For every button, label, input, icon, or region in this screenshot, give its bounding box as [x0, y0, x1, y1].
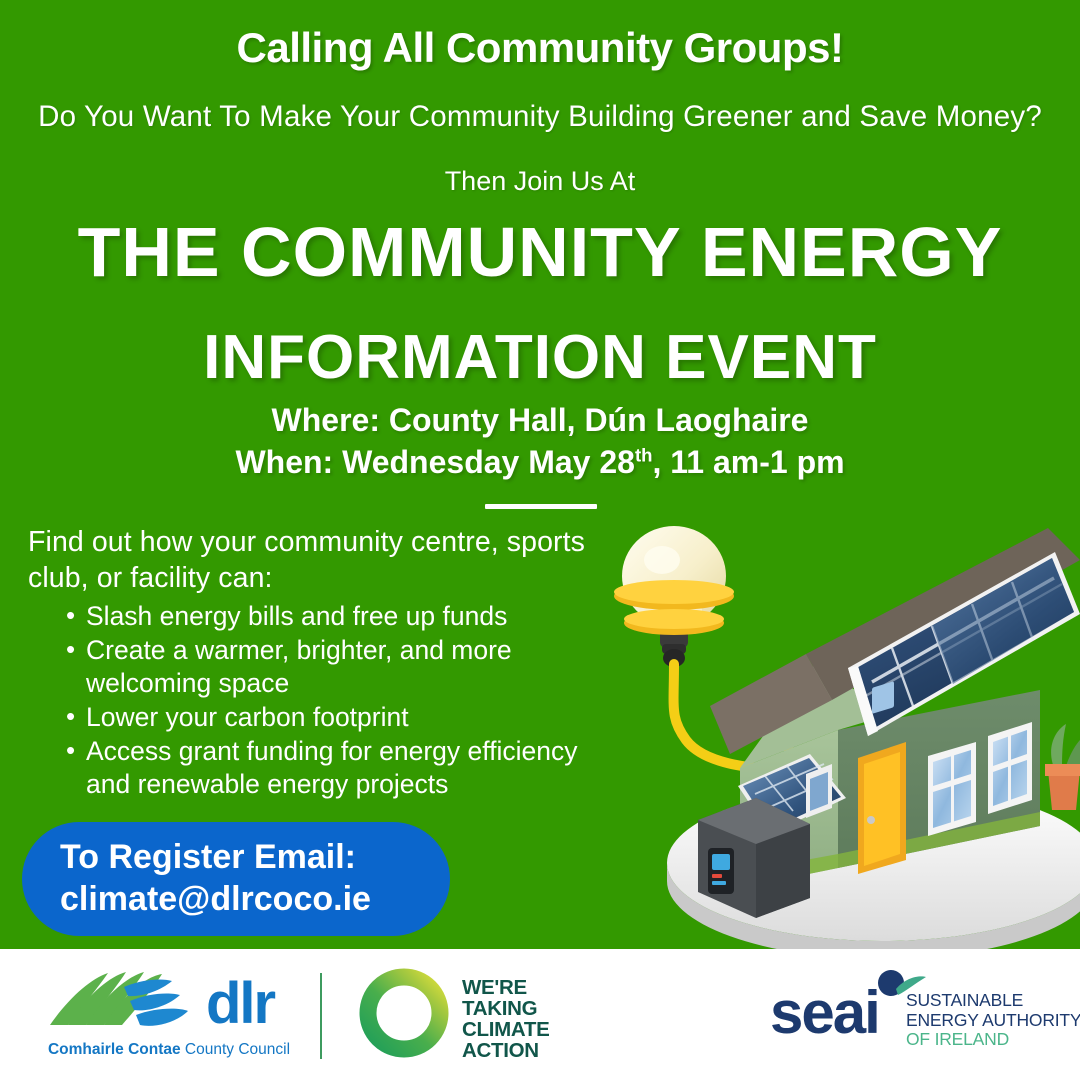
climate-ring-icon — [356, 965, 452, 1061]
event-location: Where: County Hall, Dún Laoghaire — [0, 402, 1080, 439]
event-when-ordinal: th — [635, 444, 653, 465]
body-copy-block: Find out how your community centre, spor… — [28, 524, 618, 802]
seai-logo: seai SUSTAINABLE ENERGY AUTHORITY OF IRE… — [770, 967, 1070, 1059]
seai-subtitle: SUSTAINABLE ENERGY AUTHORITY OF IRELAND — [906, 991, 1080, 1050]
climate-line-2: TAKING — [462, 998, 549, 1019]
poster-subheading: Do You Want To Make Your Community Build… — [0, 100, 1080, 134]
dlr-mark-icon — [38, 963, 203, 1033]
seai-sub-line-2: ENERGY AUTHORITY — [906, 1011, 1080, 1031]
footer-logo-bar: dlr Comhairle Contae County Council WE'R… — [0, 949, 1080, 1080]
page-title: Calling All Community Groups! — [0, 24, 1080, 72]
dlr-county-council-logo: dlr Comhairle Contae County Council — [38, 963, 300, 1063]
join-us-text: Then Join Us At — [0, 166, 1080, 197]
event-title-line1: THE COMMUNITY ENERGY — [0, 212, 1080, 292]
dlr-tagline-english: County Council — [185, 1041, 290, 1058]
dlr-tagline: Comhairle Contae County Council — [38, 1041, 300, 1059]
seai-wordmark: seai — [770, 983, 879, 1043]
list-item: Slash energy bills and free up funds — [66, 600, 618, 633]
list-item: Lower your carbon footprint — [66, 701, 618, 734]
section-divider — [485, 504, 597, 509]
register-email-button[interactable]: To Register Email: climate@dlrcoco.ie — [22, 822, 450, 936]
seai-sub-line-1: SUSTAINABLE — [906, 991, 1080, 1011]
climate-action-text: WE'RE TAKING CLIMATE ACTION — [462, 977, 549, 1061]
potted-plant — [1045, 724, 1080, 810]
body-intro-text: Find out how your community centre, spor… — [28, 524, 618, 596]
event-title-line2: INFORMATION EVENT — [0, 322, 1080, 393]
dlr-wordmark: dlr — [206, 975, 274, 1033]
climate-line-4: ACTION — [462, 1040, 549, 1061]
dlr-tagline-irish: Comhairle Contae — [48, 1041, 181, 1058]
climate-action-logo: WE'RE TAKING CLIMATE ACTION — [356, 965, 586, 1061]
poster-canvas: Calling All Community Groups! Do You Wan… — [0, 0, 1080, 1080]
register-button-label: To Register Email: — [60, 836, 450, 878]
footer-divider — [320, 973, 322, 1059]
seai-sub-line-3: OF IRELAND — [906, 1030, 1080, 1050]
climate-line-3: CLIMATE — [462, 1019, 549, 1040]
benefits-list: Slash energy bills and free up funds Cre… — [28, 600, 618, 801]
event-when-prefix: When: Wednesday May 28 — [235, 444, 635, 480]
climate-line-1: WE'RE — [462, 977, 549, 998]
house-solar-illustration — [610, 468, 1080, 950]
list-item: Access grant funding for energy efficien… — [66, 735, 618, 801]
list-item: Create a warmer, brighter, and more welc… — [66, 634, 618, 700]
register-email-address: climate@dlrcoco.ie — [60, 878, 450, 920]
